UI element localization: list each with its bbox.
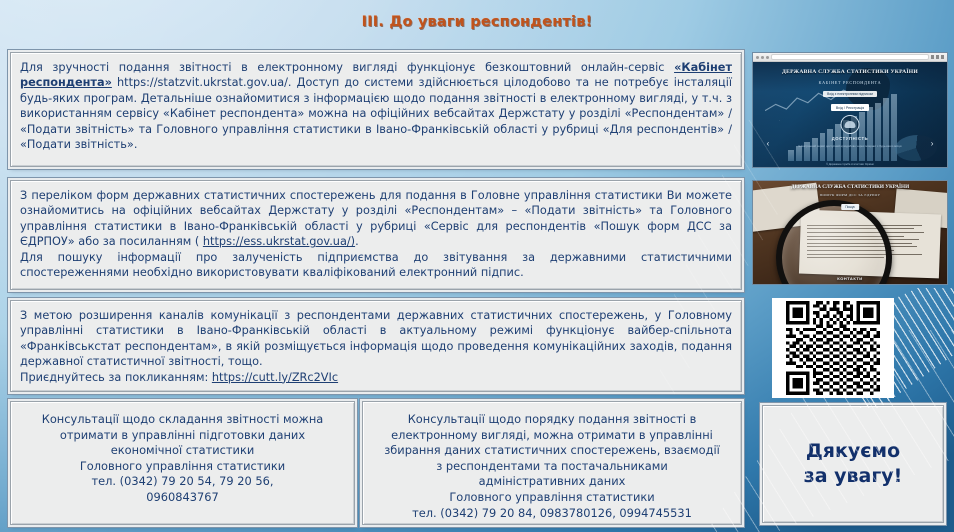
panel1-part1: Для зручності подання звітності в електр…	[20, 61, 674, 74]
contact-phone: тел. (0342) 79 20 54, 79 20 56,	[21, 474, 344, 490]
thanks-line-2: за увагу!	[804, 464, 903, 489]
panel2-part1: З переліком форм державних статистичних …	[20, 189, 732, 248]
address-bar	[771, 54, 929, 60]
qr-code-container[interactable]	[772, 298, 894, 398]
panel2-part2: .	[355, 235, 359, 248]
contact-phone: тел. (0342) 79 20 84, 0983780126, 099474…	[373, 506, 731, 522]
contact-line: Головного управління статистики	[373, 490, 731, 506]
form-search-contacts-label: КОНТАКТИ	[753, 276, 947, 281]
form-search-subheading: ПОШУК ФОРМ ДСС ЗА ЄДРПОУ	[753, 193, 947, 197]
page-title: III. До уваги респондентів!	[0, 14, 954, 30]
statzvit-pill-row-2: Вхід / Реєстрація	[753, 104, 947, 111]
contact-line: економічної статистики	[21, 443, 344, 459]
screenshot-form-search: ДЕРЖАВНА СЛУЖБА СТАТИСТИКИ УКРАЇНИ ПОШУК…	[752, 180, 948, 285]
forward-arrow-icon	[761, 56, 764, 59]
carousel-next-icon[interactable]: ›	[931, 140, 934, 148]
contact-line: з респондентами та постачальниками	[373, 459, 731, 475]
statzvit-caption-sub: Електронний сервіс доступний цілодобово …	[796, 144, 905, 148]
slide-root: III. До уваги респондентів! Для зручност…	[0, 0, 954, 532]
contact-panel-data-collection-text: Консультації щодо порядку подання звітно…	[363, 402, 741, 529]
profile-icon	[936, 55, 939, 59]
contact-panel-economic-stats-text: Консультації щодо складання звітності мо…	[11, 402, 354, 514]
screenshot-statzvit-cabinet: ДЕРЖАВНА СЛУЖБА СТАТИСТИКИ УКРАЇНИ КАБІН…	[752, 52, 948, 168]
seal-icon	[841, 115, 860, 134]
statzvit-footer: © Державна служба статистики України	[753, 163, 947, 166]
sign-in-with-signature-button[interactable]: Вхід з електронним підписом	[823, 91, 877, 97]
back-arrow-icon	[756, 56, 759, 59]
contact-line: збирання даних статистичних спостережень…	[373, 443, 731, 459]
contact-line: отримати в управлінні підготовки даних	[21, 428, 344, 444]
panel1-part2: https://statzvit.ukrstat.gov.ua/. Доступ…	[20, 76, 732, 151]
contact-line: Консультації щодо складання звітності мо…	[21, 412, 344, 428]
info-panel-forms-text: З переліком форм державних статистичних …	[11, 181, 741, 286]
viber-community-link[interactable]: https://cutt.ly/ZRc2VIc	[212, 371, 338, 384]
contact-panel-data-collection: Консультації щодо порядку подання звітно…	[362, 401, 742, 525]
thanks-panel: Дякуємо за увагу!	[762, 405, 944, 523]
reload-icon	[766, 56, 769, 59]
form-search-button[interactable]: Пошук	[841, 204, 859, 210]
contact-phone: 0960843767	[21, 490, 344, 506]
contact-line: електронному вигляді, можна отримати в у…	[373, 428, 731, 444]
browser-chrome-bar	[753, 53, 947, 62]
menu-icon	[941, 55, 944, 59]
statzvit-subheading: КАБІНЕТ РЕСПОНДЕНТА	[753, 80, 947, 85]
contact-line: адміністративних даних	[373, 474, 731, 490]
statzvit-caption: ДОСТУПНІСТЬ	[753, 136, 947, 141]
contact-panel-economic-stats: Консультації щодо складання звітності мо…	[10, 401, 355, 525]
contact-line: Консультації щодо порядку подання звітно…	[373, 412, 731, 428]
extension-icon	[931, 55, 934, 59]
statzvit-pill-row-1: Вхід з електронним підписом	[753, 91, 947, 97]
panel3-part1: З метою розширення каналів комунікації з…	[20, 309, 732, 368]
panel3-line2-prefix: Приєднуйтесь за покликанням:	[20, 371, 212, 384]
login-register-button[interactable]: Вхід / Реєстрація	[831, 104, 869, 111]
thanks-line-1: Дякуємо	[804, 439, 903, 464]
carousel-prev-icon[interactable]: ‹	[767, 140, 770, 148]
info-panel-cabinet-text: Для зручності подання звітності в електр…	[11, 53, 741, 158]
ess-link[interactable]: https://ess.ukrstat.gov.ua/)	[203, 235, 355, 248]
info-panel-viber-text: З метою розширення каналів комунікації з…	[11, 301, 741, 391]
form-search-heading: ДЕРЖАВНА СЛУЖБА СТАТИСТИКИ УКРАЇНИ	[753, 184, 947, 190]
info-panel-cabinet: Для зручності подання звітності в електр…	[10, 52, 742, 167]
statzvit-heading: ДЕРЖАВНА СЛУЖБА СТАТИСТИКИ УКРАЇНИ	[753, 69, 947, 75]
panel2-line2: Для пошуку інформації про залученість пі…	[20, 251, 732, 279]
qr-code[interactable]	[775, 301, 891, 395]
contact-line: Головного управління статистики	[21, 459, 344, 475]
screenshot-statzvit-body: ДЕРЖАВНА СЛУЖБА СТАТИСТИКИ УКРАЇНИ КАБІН…	[753, 62, 947, 167]
info-panel-forms: З переліком форм державних статистичних …	[10, 180, 742, 290]
info-panel-viber: З метою розширення каналів комунікації з…	[10, 300, 742, 392]
thanks-text: Дякуємо за увагу!	[804, 439, 903, 489]
